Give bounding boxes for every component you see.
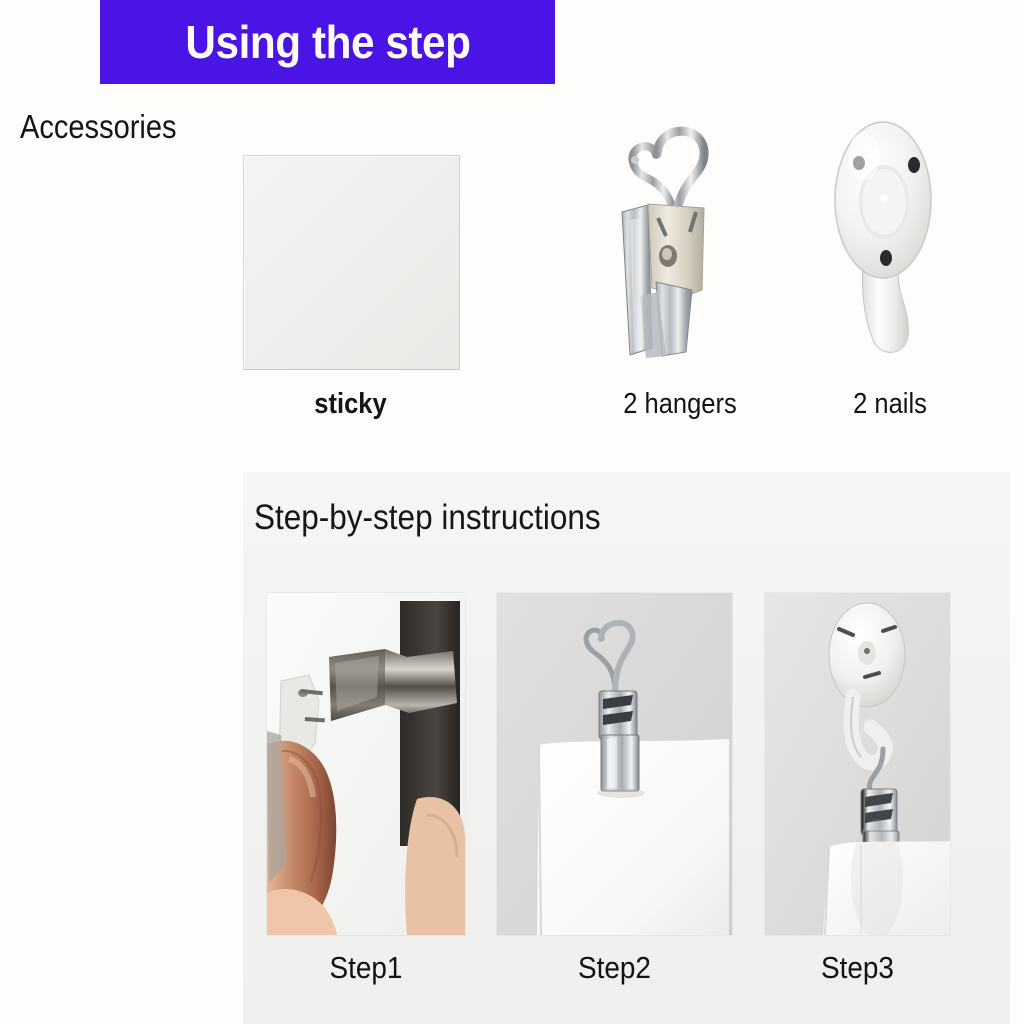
clip-gripping-fabric-scene — [497, 593, 732, 935]
page-title: Using the step — [185, 15, 470, 69]
instructions-heading: Step-by-step instructions — [254, 498, 601, 538]
sticky-caption: sticky — [256, 388, 445, 421]
title-banner: Using the step — [100, 0, 555, 84]
step-1-caption: Step1 — [277, 950, 455, 986]
sticky-pad-image — [243, 155, 460, 370]
white-wall-hook-icon — [820, 110, 960, 360]
step-2-caption: Step2 — [509, 950, 721, 986]
metal-clip-hanger-icon — [600, 100, 760, 360]
product-instruction-image: Using the step Accessories sticky — [0, 0, 1024, 1024]
accessories-heading: Accessories — [20, 108, 177, 146]
wall-hook-image — [820, 110, 960, 360]
step-3-caption: Step3 — [774, 950, 941, 986]
hammering-nails-scene — [267, 593, 465, 935]
step-1-photo — [267, 593, 465, 935]
step-2-photo — [497, 593, 732, 935]
step-3-photo — [765, 593, 950, 935]
clip-hanging-on-wall-hook-scene — [765, 593, 950, 935]
hanger-clip-image — [600, 100, 760, 360]
nails-caption: 2 nails — [820, 388, 961, 421]
hangers-caption: 2 hangers — [605, 388, 755, 421]
